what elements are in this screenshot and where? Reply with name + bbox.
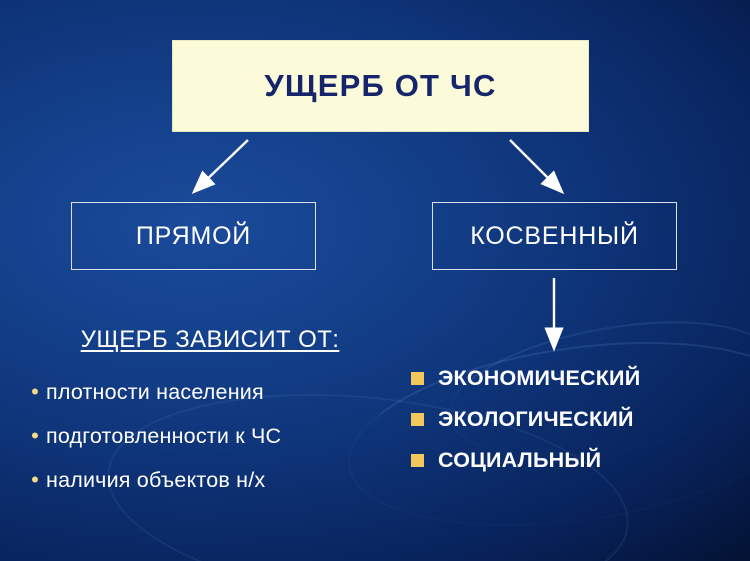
node-label-direct: ПРЯМОЙ <box>136 222 251 251</box>
left-bullet-list: • плотности населения • подготовленности… <box>24 379 400 511</box>
slide-canvas: УЩЕРБ ОТ ЧС ПРЯМОЙ КОСВЕННЫЙ УЩЕРБ ЗАВИС… <box>0 0 750 561</box>
arrow-title-to-left <box>200 140 248 186</box>
list-item-label: ЭКОЛОГИЧЕСКИЙ <box>438 407 634 432</box>
node-box-direct: ПРЯМОЙ <box>71 202 316 270</box>
list-item-label: подготовленности к ЧС <box>46 423 281 449</box>
bullet-dot-icon: • <box>24 379 46 405</box>
node-label-indirect: КОСВЕННЫЙ <box>470 222 639 251</box>
bullet-dot-icon: • <box>24 423 46 449</box>
left-section-heading: УЩЕРБ ЗАВИСИТ ОТ: <box>40 326 380 354</box>
list-item-label: ЭКОНОМИЧЕСКИЙ <box>438 366 640 391</box>
bullet-dot-icon: • <box>24 467 46 493</box>
diagram-title-text: УЩЕРБ ОТ ЧС <box>264 68 496 104</box>
node-box-indirect: КОСВЕННЫЙ <box>432 202 677 270</box>
list-item: • наличия объектов н/х <box>24 467 400 493</box>
bullet-square-icon <box>411 454 424 467</box>
right-bullet-list: ЭКОНОМИЧЕСКИЙ ЭКОЛОГИЧЕСКИЙ СОЦИАЛЬНЫЙ <box>411 366 731 489</box>
bullet-square-icon <box>411 413 424 426</box>
bullet-square-icon <box>411 372 424 385</box>
list-item: • подготовленности к ЧС <box>24 423 400 449</box>
list-item: ЭКОНОМИЧЕСКИЙ <box>411 366 731 391</box>
list-item: СОЦИАЛЬНЫЙ <box>411 448 731 473</box>
list-item-label: СОЦИАЛЬНЫЙ <box>438 448 601 473</box>
list-item-label: наличия объектов н/х <box>46 467 265 493</box>
list-item: ЭКОЛОГИЧЕСКИЙ <box>411 407 731 432</box>
arrow-title-to-right <box>510 140 556 186</box>
list-item-label: плотности населения <box>46 379 264 405</box>
diagram-title-box: УЩЕРБ ОТ ЧС <box>172 40 589 132</box>
list-item: • плотности населения <box>24 379 400 405</box>
